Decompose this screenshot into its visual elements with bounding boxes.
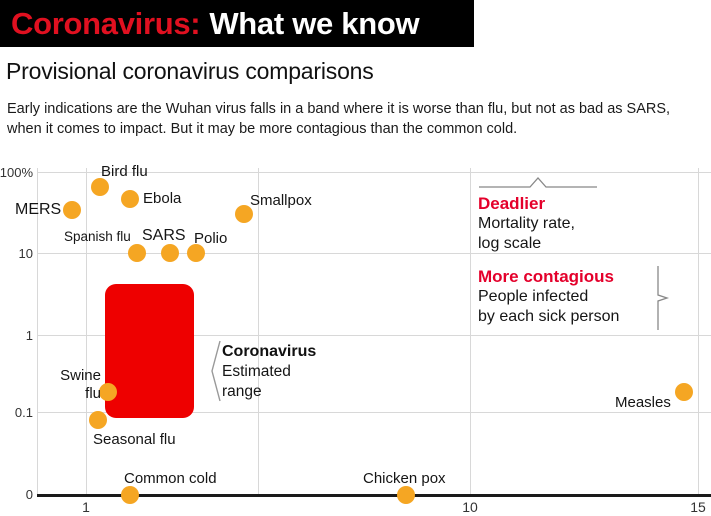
- point-label-smallpox: Smallpox: [250, 192, 312, 209]
- x-tick-label: 10: [462, 499, 478, 515]
- data-point-bird-flu[interactable]: [91, 178, 109, 196]
- point-label-ebola: Ebola: [143, 190, 181, 207]
- deadlier-annotation-line1: Mortality rate,: [478, 214, 575, 234]
- data-point-sars[interactable]: [161, 244, 179, 262]
- y-tick-label: 0: [26, 487, 33, 502]
- y-tick-label: 1: [26, 328, 33, 343]
- contagious-annotation-line1: People infected: [478, 287, 619, 307]
- point-label-polio: Polio: [194, 230, 227, 247]
- data-point-swine-flu[interactable]: [99, 383, 117, 401]
- contagious-annotation: More contagious People infected by each …: [478, 266, 619, 327]
- coronavirus-range-box: [105, 284, 194, 418]
- contagious-annotation-title: More contagious: [478, 266, 619, 287]
- point-label-seasonal-flu: Seasonal flu: [93, 431, 176, 448]
- point-label-common-cold: Common cold: [124, 470, 217, 487]
- point-label-swine-flu: Swineflu: [53, 367, 101, 403]
- point-label-chicken-pox: Chicken pox: [363, 470, 446, 487]
- chart-plot-area: 100% 10 1 0.1 0 1 10 15 MERS Bird flu Eb…: [0, 0, 711, 516]
- data-point-seasonal-flu[interactable]: [89, 411, 107, 429]
- y-tick-label: 10: [19, 246, 33, 261]
- y-tick-label: 100%: [0, 165, 33, 180]
- x-tick-label: 1: [82, 499, 90, 515]
- gridline-vertical: [86, 168, 87, 495]
- point-label-mers: MERS: [15, 201, 61, 219]
- point-label-bird-flu: Bird flu: [101, 163, 148, 180]
- x-tick-label: 15: [690, 499, 706, 515]
- gridline-vertical: [470, 168, 471, 495]
- deadlier-bracket-icon: [478, 176, 598, 190]
- point-label-spanish-flu: Spanish flu: [64, 229, 131, 244]
- data-point-spanish-flu[interactable]: [128, 244, 146, 262]
- gridline-vertical: [698, 168, 699, 495]
- data-point-mers[interactable]: [63, 201, 81, 219]
- coronavirus-annotation-line2: range: [222, 382, 372, 402]
- point-label-measles: Measles: [615, 394, 671, 411]
- deadlier-annotation: Deadlier Mortality rate, log scale: [478, 193, 575, 254]
- coronavirus-annotation-title: Coronavirus: [222, 341, 372, 362]
- data-point-measles[interactable]: [675, 383, 693, 401]
- coronavirus-bracket-icon: [207, 340, 223, 402]
- contagious-bracket-icon: [657, 265, 671, 331]
- contagious-annotation-line2: by each sick person: [478, 307, 619, 327]
- data-point-chicken-pox[interactable]: [397, 486, 415, 504]
- data-point-common-cold[interactable]: [121, 486, 139, 504]
- deadlier-annotation-line2: log scale: [478, 234, 575, 254]
- deadlier-annotation-title: Deadlier: [478, 193, 575, 214]
- data-point-ebola[interactable]: [121, 190, 139, 208]
- coronavirus-annotation-line1: Estimated: [222, 362, 372, 382]
- y-tick-label: 0.1: [15, 405, 33, 420]
- point-label-sars: SARS: [142, 227, 186, 245]
- gridline-vertical: [258, 168, 259, 495]
- coronavirus-annotation: Coronavirus Estimated range: [222, 341, 372, 402]
